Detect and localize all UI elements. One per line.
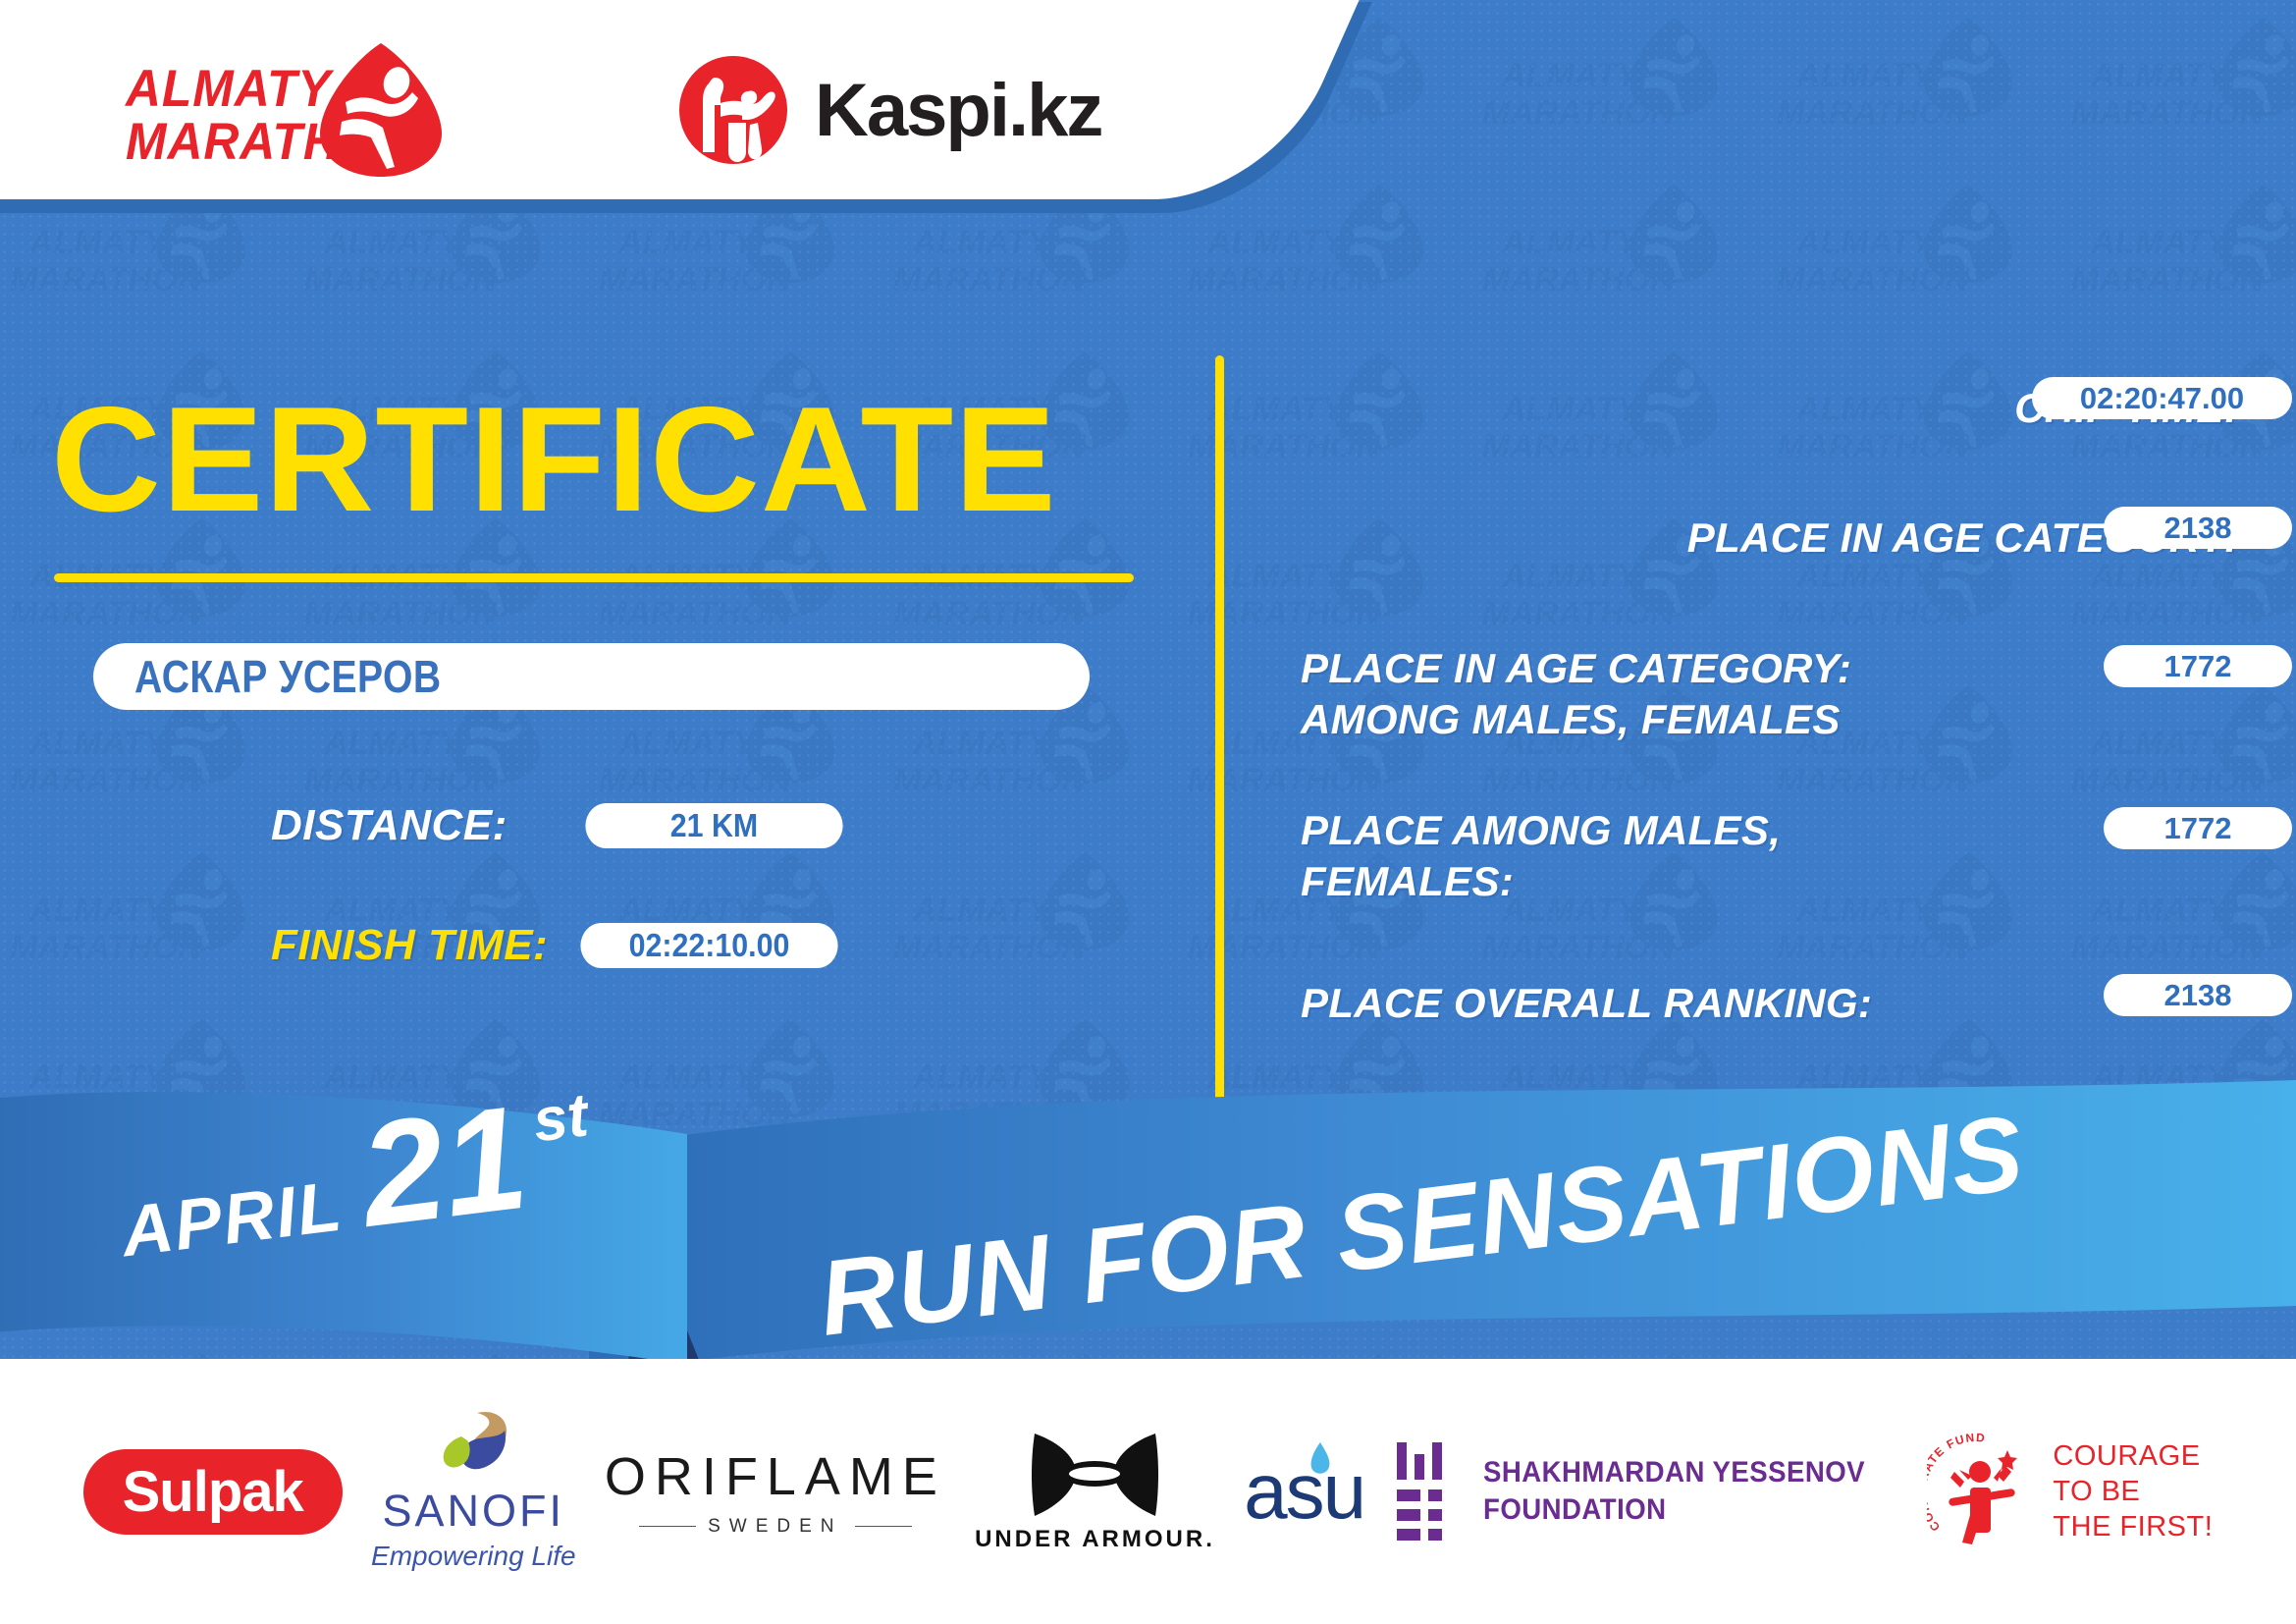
under-armour-wordmark: UNDER ARMOUR. bbox=[975, 1526, 1215, 1553]
header: ALMATY MARATHON Kaspi.kz bbox=[0, 0, 1178, 196]
yessenov-line1: SHAKHMARDAN YESSENOV bbox=[1483, 1454, 1865, 1491]
sponsor-courage-to-be-the-first: CORPORATE FUND COURAGE TO BE THE FIRST! bbox=[1927, 1433, 2213, 1550]
courage-line1: COURAGE bbox=[2053, 1438, 2213, 1474]
chip-time-value: 02:20:47.00 bbox=[2032, 377, 2292, 419]
sponsor-under-armour: UNDER ARMOUR. bbox=[975, 1430, 1215, 1553]
finish-time-label: FINISH TIME: bbox=[271, 921, 548, 970]
place-in-age-category-value: 2138 bbox=[2104, 507, 2292, 549]
place-in-age-category-among-label: PLACE IN AGE CATEGORY:AMONG MALES, FEMAL… bbox=[1301, 643, 1929, 745]
kaspi-wordmark: Kaspi.kz bbox=[815, 68, 1101, 153]
sponsor-asu: asu bbox=[1244, 1446, 1364, 1537]
vertical-yellow-divider bbox=[1215, 355, 1224, 1102]
oriflame-tagline: SWEDEN bbox=[708, 1516, 842, 1538]
place-overall-ranking-label: PLACE OVERALL RANKING: bbox=[1301, 978, 1929, 1029]
kaspi-people-circle-icon bbox=[677, 54, 789, 166]
yessenov-wordmark: SHAKHMARDAN YESSENOV FOUNDATION bbox=[1483, 1454, 1865, 1529]
sanofi-wordmark: SANOFI bbox=[383, 1486, 565, 1537]
courage-wordmark: COURAGE TO BE THE FIRST! bbox=[2053, 1438, 2213, 1544]
place-among-males-females-label: PLACE AMONG MALES,FEMALES: bbox=[1301, 805, 1929, 907]
sponsor-yessenov-foundation: SHAKHMARDAN YESSENOV FOUNDATION bbox=[1393, 1440, 1898, 1543]
under-armour-logo-icon bbox=[1029, 1430, 1161, 1520]
courage-line2: TO BE bbox=[2053, 1474, 2213, 1509]
oriflame-wordmark: ORIFLAME bbox=[605, 1446, 946, 1507]
finish-time-value: 02:22:10.00 bbox=[581, 923, 838, 968]
ribbon-day: 21 bbox=[349, 1080, 535, 1258]
oriflame-sub: SWEDEN bbox=[605, 1516, 946, 1538]
certificate-title: CERTIFICATE bbox=[51, 385, 1057, 534]
certificate-canvas: ALMATY MARATHON Kaspi.kz bbox=[0, 0, 2296, 1624]
oriflame-rule-left bbox=[639, 1526, 696, 1527]
sanofi-bird-icon bbox=[428, 1411, 518, 1482]
ribbon-day-suffix: st bbox=[529, 1081, 593, 1155]
courage-line3: THE FIRST! bbox=[2053, 1509, 2213, 1544]
sanofi-tagline: Empowering Life bbox=[371, 1541, 576, 1572]
yessenov-bars-icon bbox=[1393, 1440, 1458, 1543]
almaty-marathon-logo: ALMATY MARATHON bbox=[126, 45, 450, 173]
sulpak-wordmark: Sulpak bbox=[123, 1459, 303, 1525]
distance-row: DISTANCE: 21 KM bbox=[271, 801, 854, 850]
place-in-age-category-among-value: 1772 bbox=[2104, 645, 2292, 687]
corporate-fund-figure-icon: CORPORATE FUND bbox=[1927, 1433, 2037, 1550]
kaspi-logo: Kaspi.kz bbox=[677, 51, 1101, 169]
title-underline-rule bbox=[54, 573, 1134, 582]
oriflame-rule-right bbox=[855, 1526, 912, 1527]
sponsor-sulpak: Sulpak bbox=[83, 1449, 343, 1535]
participant-name: АСКАР УСЕРОВ bbox=[134, 650, 442, 703]
place-overall-ranking-value: 2138 bbox=[2104, 974, 2292, 1016]
sponsor-oriflame: ORIFLAME SWEDEN bbox=[605, 1446, 946, 1538]
participant-name-field[interactable]: АСКАР УСЕРОВ bbox=[93, 643, 1090, 710]
yessenov-line2: FOUNDATION bbox=[1483, 1491, 1865, 1529]
place-among-males-females-value: 1772 bbox=[2104, 807, 2292, 849]
sponsor-footer: Sulpak SANOFI Empowering Life ORIFLAME S… bbox=[0, 1359, 2296, 1624]
distance-label: DISTANCE: bbox=[271, 801, 507, 850]
sponsor-sanofi: SANOFI Empowering Life bbox=[371, 1411, 576, 1572]
asu-drop-icon bbox=[1305, 1440, 1334, 1478]
finish-time-row: FINISH TIME: 02:22:10.00 bbox=[271, 921, 849, 970]
running-man-drop-icon bbox=[318, 41, 444, 179]
distance-value: 21 KM bbox=[585, 803, 842, 848]
